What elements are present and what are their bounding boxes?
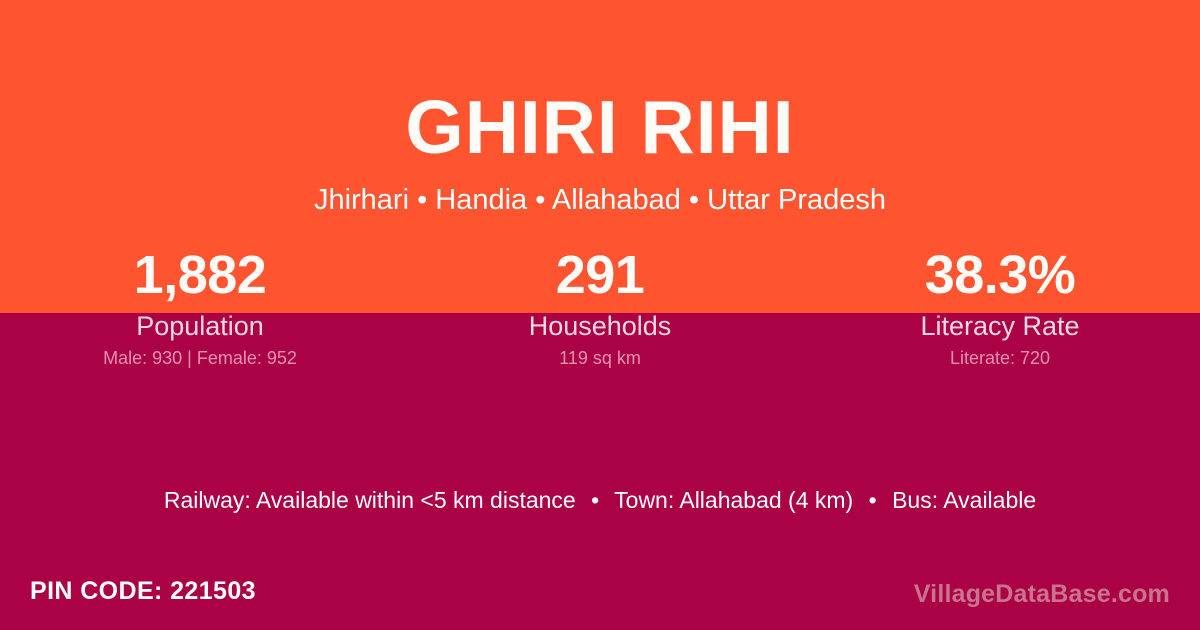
breadcrumb: Jhirhari • Handia • Allahabad • Uttar Pr… xyxy=(0,182,1200,218)
page-title: GHIRI RIHI xyxy=(0,79,1200,175)
stat-value: 291 xyxy=(400,245,800,305)
amenity-railway: Railway: Available within <5 km distance xyxy=(164,487,576,513)
stat-label: Literacy Rate xyxy=(800,310,1200,342)
stat-literacy-rate: 38.3% Literacy Rate Literate: 720 xyxy=(800,245,1200,385)
stats-row: 1,882 Population Male: 930 | Female: 952… xyxy=(0,245,1200,385)
stat-label: Population xyxy=(0,310,400,342)
stat-value: 38.3% xyxy=(800,245,1200,305)
amenity-bus: Bus: Available xyxy=(892,487,1036,513)
amenity-separator-icon: • xyxy=(582,486,608,515)
site-brand: VillageDataBase.com xyxy=(914,578,1170,610)
stat-population: 1,882 Population Male: 930 | Female: 952 xyxy=(0,245,400,385)
amenity-town: Town: Allahabad (4 km) xyxy=(614,487,853,513)
stat-value: 1,882 xyxy=(0,245,400,305)
stat-sub: 119 sq km xyxy=(400,347,800,369)
stat-households: 291 Households 119 sq km xyxy=(400,245,800,385)
village-info-card: GHIRI RIHI Jhirhari • Handia • Allahabad… xyxy=(0,0,1200,630)
amenity-separator-icon: • xyxy=(860,486,886,515)
pin-code: PIN CODE: 221503 xyxy=(30,575,256,607)
stat-sub: Literate: 720 xyxy=(800,347,1200,369)
stat-sub: Male: 930 | Female: 952 xyxy=(0,347,400,369)
amenities-line: Railway: Available within <5 km distance… xyxy=(0,486,1200,515)
stat-label: Households xyxy=(400,310,800,342)
